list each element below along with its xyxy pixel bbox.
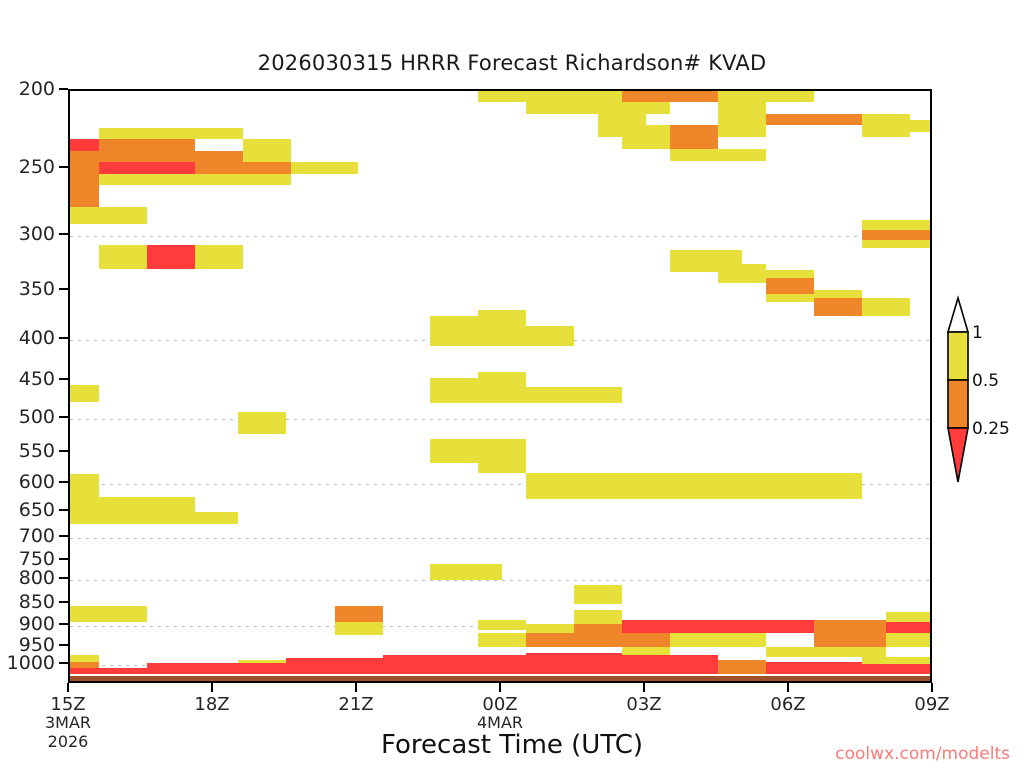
y-tick-label: 300 (0, 223, 55, 245)
heatmap-cell (718, 264, 766, 283)
heatmap-cell (99, 162, 147, 174)
heatmap-cell (70, 385, 99, 402)
heatmap-cell (70, 512, 238, 524)
gridline (70, 580, 930, 581)
y-tick-mark (59, 601, 68, 603)
y-tick-label: 350 (0, 278, 55, 300)
heatmap-cell (886, 633, 932, 647)
y-tick-label: 450 (0, 368, 55, 390)
y-tick-label: 250 (0, 156, 55, 178)
colorbar-cap-bottom (948, 428, 968, 482)
colorbar-tick-025: 0.25 (972, 419, 1010, 439)
x-tick-mark (211, 683, 213, 692)
heatmap-cell (70, 207, 147, 224)
heatmap-cell (718, 660, 766, 674)
heatmap-cell (766, 278, 814, 294)
heatmap-cell (862, 230, 932, 240)
heatmap-cell (243, 162, 291, 174)
y-tick-label: 550 (0, 440, 55, 462)
heatmap-cell (70, 497, 195, 512)
gridline (70, 419, 930, 420)
y-tick-label: 1000 (0, 652, 55, 674)
chart-page: 2026030315 HRRR Forecast Richardson# KVA… (0, 0, 1024, 768)
watermark: coolwx.com/modelts (835, 744, 1010, 764)
y-tick-mark (59, 378, 68, 380)
heatmap-cell (526, 633, 622, 647)
heatmap-cell (814, 620, 886, 633)
y-tick-label: 200 (0, 78, 55, 100)
heatmap-cell (478, 463, 526, 473)
y-tick-mark (59, 88, 68, 90)
colorbar-tick-05: 0.5 (972, 371, 999, 391)
colorbar-tick-1: 1 (972, 323, 983, 343)
heatmap-cell (574, 624, 622, 633)
y-tick-mark (59, 558, 68, 560)
heatmap-cell (99, 128, 195, 139)
y-tick-mark (59, 481, 68, 483)
gridline (70, 538, 930, 539)
heatmap-cell (195, 174, 291, 185)
x-tick-label: 21Z (338, 694, 373, 715)
heatmap-cell (766, 647, 886, 657)
y-tick-label: 900 (0, 613, 55, 635)
heatmap-cell (766, 114, 862, 125)
heatmap-cell (574, 610, 622, 624)
heatmap-cell (526, 653, 622, 674)
heatmap-cell (99, 151, 195, 162)
heatmap-cell (526, 102, 574, 114)
y-tick-mark (59, 166, 68, 168)
heatmap-cell (430, 439, 526, 463)
heatmap-cell (598, 125, 622, 137)
heatmap-cell (622, 633, 670, 647)
heatmap-cell (70, 174, 99, 185)
heatmap-cell (622, 620, 766, 633)
terrain-strip (70, 676, 930, 683)
x-tick-mark (67, 683, 69, 692)
y-tick-label: 850 (0, 591, 55, 613)
plot-area (68, 89, 932, 683)
x-tick-mark (355, 683, 357, 692)
heatmap-cell (718, 114, 766, 125)
heatmap-cell (526, 624, 574, 633)
heatmap-cell (286, 658, 383, 674)
gridline (70, 236, 930, 237)
heatmap-cell (886, 622, 932, 633)
y-tick-mark (59, 416, 68, 418)
heatmap-cell (243, 139, 291, 151)
heatmap-cell (862, 298, 910, 316)
x-tick-mark (499, 683, 501, 692)
heatmap-cell (718, 90, 814, 102)
x-tick-mark (931, 683, 933, 692)
heatmap-cell (478, 90, 526, 102)
heatmap-cell (430, 387, 622, 403)
heatmap-cell (814, 298, 862, 316)
heatmap-cell (526, 90, 574, 102)
y-tick-mark (59, 623, 68, 625)
heatmap-cell (574, 585, 622, 604)
heatmap-cell (70, 474, 99, 497)
y-tick-mark (59, 662, 68, 664)
heatmap-cell (574, 90, 622, 102)
heatmap-cell (478, 620, 526, 630)
heatmap-cell (574, 102, 622, 114)
y-tick-mark (59, 288, 68, 290)
colorbar-segment-yellow (948, 332, 968, 380)
heatmap-cell (718, 149, 766, 161)
heatmap-cell (766, 270, 814, 278)
heatmap-cell (195, 128, 243, 139)
y-tick-label: 400 (0, 327, 55, 349)
heatmap-cell (862, 657, 932, 664)
heatmap-canvas (70, 91, 930, 681)
heatmap-cell (910, 120, 932, 132)
heatmap-cell (99, 245, 147, 269)
y-tick-mark (59, 337, 68, 339)
heatmap-cell (291, 162, 358, 174)
heatmap-cell (478, 633, 526, 647)
y-tick-label: 700 (0, 525, 55, 547)
x-tick-label: 18Z (194, 694, 229, 715)
heatmap-cell (99, 174, 195, 185)
y-tick-mark (59, 577, 68, 579)
heatmap-cell (70, 139, 99, 151)
y-tick-mark (59, 233, 68, 235)
x-tick-mark (643, 683, 645, 692)
heatmap-cell (147, 663, 238, 674)
y-tick-label: 650 (0, 499, 55, 521)
heatmap-cell (670, 149, 718, 161)
heatmap-cell (383, 655, 526, 674)
heatmap-cell (862, 125, 910, 137)
heatmap-cell (814, 290, 862, 298)
heatmap-cell (718, 102, 766, 114)
y-tick-mark (59, 535, 68, 537)
heatmap-cell (147, 162, 195, 174)
heatmap-cell (478, 310, 526, 326)
heatmap-cell (862, 220, 932, 230)
heatmap-cell (430, 564, 502, 580)
heatmap-cell (622, 102, 670, 114)
heatmap-cell (622, 125, 670, 137)
page-title: 2026030315 HRRR Forecast Richardson# KVA… (0, 51, 1024, 75)
heatmap-cell (99, 139, 195, 151)
heatmap-cell (670, 633, 766, 647)
colorbar-segment-orange (948, 380, 968, 428)
colorbar-cap-top (948, 298, 968, 332)
x-tick-label: 03Z (626, 694, 661, 715)
heatmap-cell (622, 90, 718, 102)
y-tick-mark (59, 644, 68, 646)
heatmap-cell (70, 606, 147, 622)
heatmap-cell (70, 655, 99, 662)
heatmap-cell (886, 612, 932, 622)
heatmap-cell (70, 151, 99, 162)
y-tick-label: 800 (0, 567, 55, 589)
x-tick-label: 15Z (50, 694, 85, 715)
heatmap-cell (195, 162, 243, 174)
heatmap-cell (862, 114, 910, 125)
x-tick-mark (787, 683, 789, 692)
heatmap-cell (622, 137, 670, 149)
colorbar: 1 0.5 0.25 (940, 290, 1024, 490)
heatmap-cell (526, 473, 862, 482)
heatmap-cell (766, 662, 862, 674)
heatmap-cell (335, 622, 383, 635)
x-tick-label: 00Z (482, 694, 517, 715)
y-tick-mark (59, 450, 68, 452)
y-tick-mark (59, 509, 68, 511)
heatmap-cell (598, 114, 646, 125)
heatmap-cell (766, 620, 814, 633)
heatmap-cell (766, 294, 814, 302)
heatmap-cell (430, 326, 574, 346)
heatmap-cell (238, 412, 286, 434)
heatmap-cell (147, 245, 195, 269)
y-tick-label: 500 (0, 406, 55, 428)
heatmap-cell (718, 125, 766, 137)
x-tick-label: 06Z (770, 694, 805, 715)
heatmap-cell (862, 240, 932, 248)
heatmap-cell (430, 378, 478, 387)
heatmap-cell (195, 151, 243, 162)
y-tick-label: 600 (0, 471, 55, 493)
heatmap-cell (814, 633, 886, 647)
heatmap-cell (622, 655, 718, 674)
x-tick-label: 09Z (914, 694, 949, 715)
heatmap-cell (478, 372, 526, 387)
heatmap-cell (335, 606, 383, 622)
heatmap-cell (70, 162, 99, 174)
heatmap-cell (862, 664, 932, 674)
heatmap-cell (70, 185, 99, 207)
heatmap-cell (430, 316, 478, 326)
heatmap-cell (243, 151, 291, 162)
heatmap-cell (670, 125, 718, 149)
heatmap-cell (195, 245, 243, 269)
heatmap-cell (526, 482, 862, 499)
